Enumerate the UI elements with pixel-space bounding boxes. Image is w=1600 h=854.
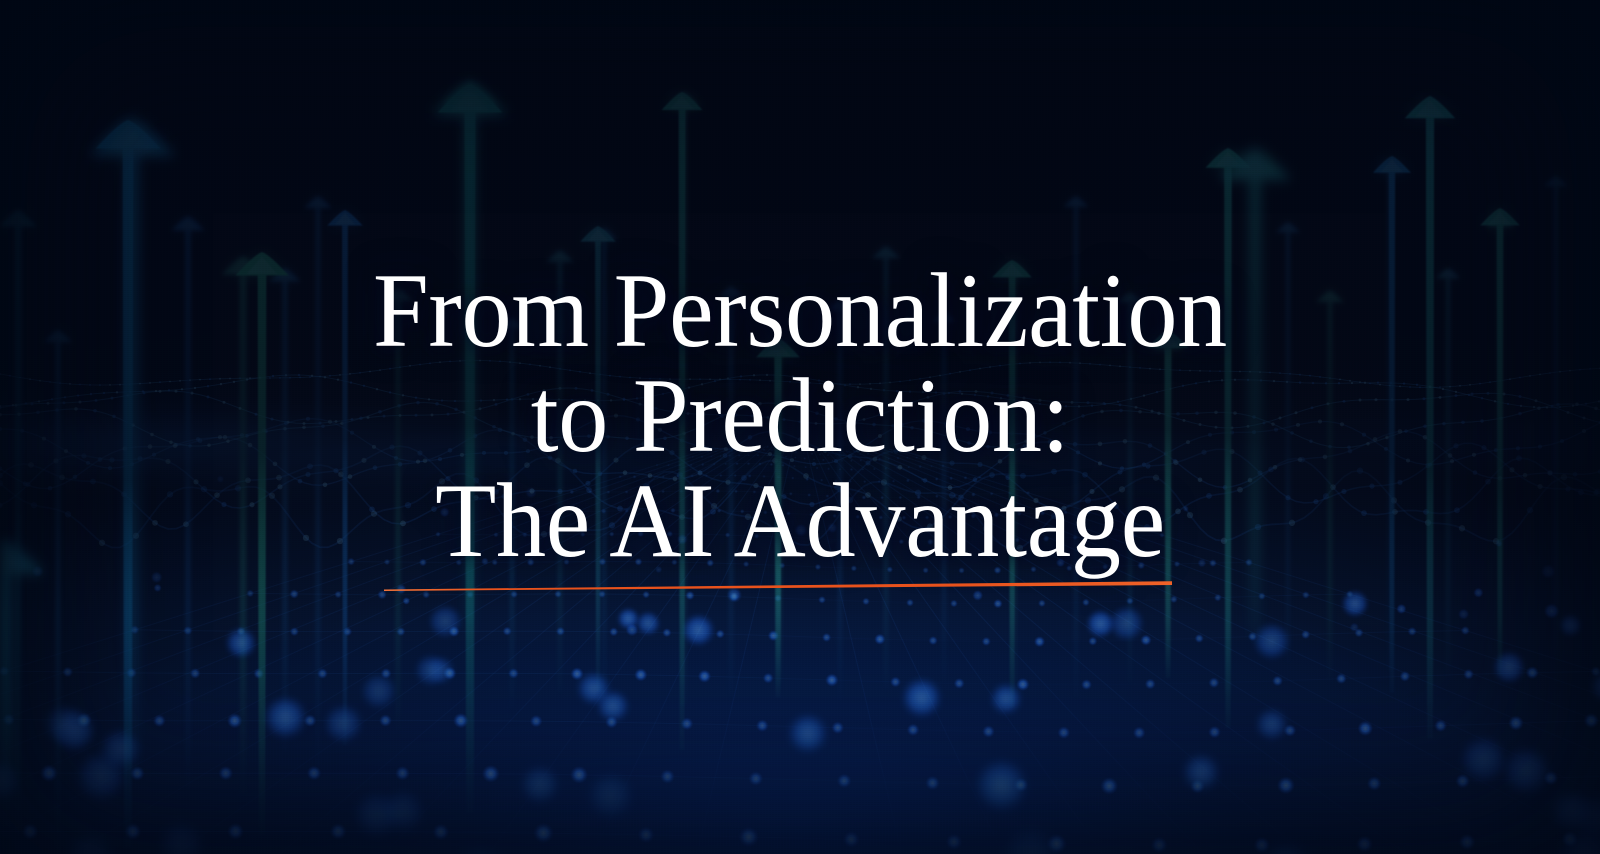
title-line-3: The AI Advantage	[44, 468, 1556, 573]
title-line-2: to Prediction:	[44, 363, 1556, 468]
title-line-1: From Personalization	[44, 258, 1556, 363]
hero-banner: From Personalization to Prediction: The …	[0, 0, 1600, 854]
page-title: From Personalization to Prediction: The …	[0, 258, 1600, 573]
accent-underline	[384, 580, 1172, 591]
